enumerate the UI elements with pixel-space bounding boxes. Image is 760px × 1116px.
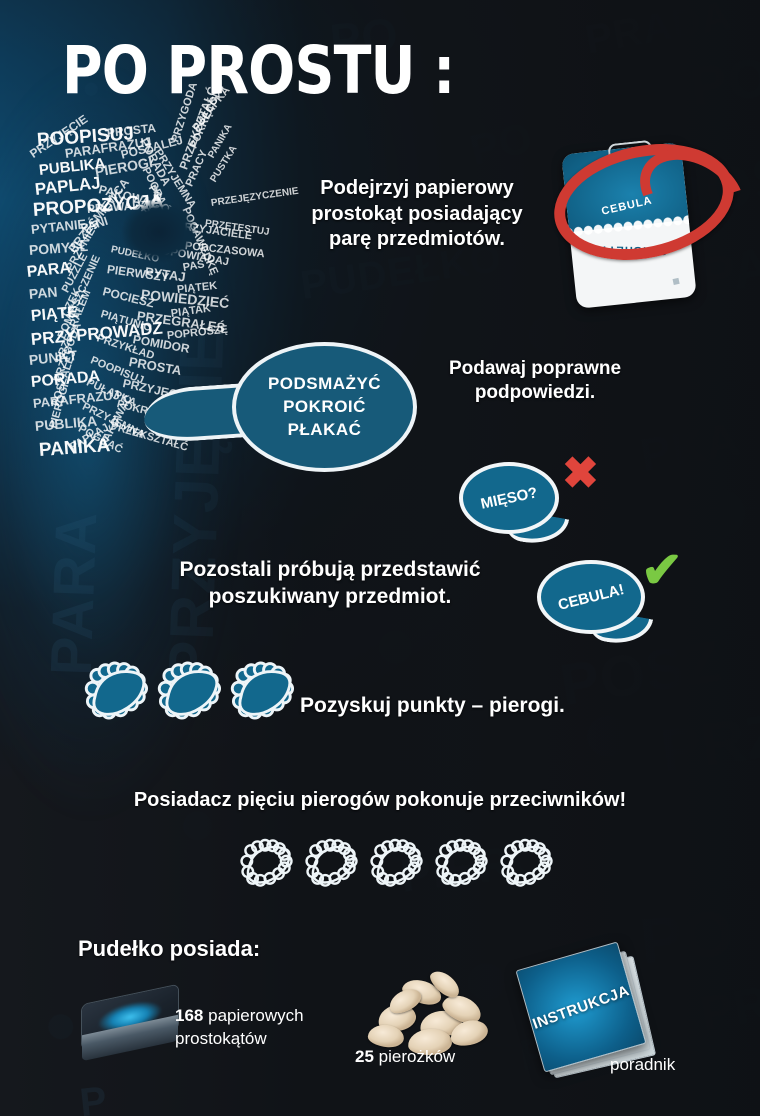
dumpling-tokens-image [368, 975, 493, 1055]
step-4-text: Pozyskuj punkty – pierogi. [300, 693, 630, 720]
hint-line-1: PODSMAŻYĆ [268, 374, 381, 394]
pierog-icon-outline [498, 840, 556, 893]
pierog-icon-outline [303, 840, 361, 893]
manual-booklet-icon: INSTRUKCJA [520, 950, 650, 1070]
step-1-text: Podejrzyj papierowy prostokąt posiadając… [272, 176, 562, 253]
cross-icon: ✖ [562, 452, 599, 496]
word-cloud-word: PAN [28, 284, 58, 302]
pierog-icon-outline [238, 840, 296, 893]
paper-rectangle-card: CEBULA SPAGHETTI [553, 140, 723, 315]
pierog-icon-filled [82, 663, 152, 726]
dumpling-label: pierożków [379, 1047, 456, 1066]
poster: POPRADAPORADAPOPROSTAPUDEŁKOPAPLAJPRZYJĘ… [0, 0, 760, 1116]
check-icon: ✔ [641, 545, 683, 595]
paper-rectangles-count: 168 [175, 1006, 203, 1025]
dumpling-count: 25 [355, 1047, 374, 1066]
hint-line-3: PŁAKAĆ [288, 420, 362, 440]
word-cloud-counter-hole [121, 200, 197, 264]
guess-bubble-wrong: MIĘSO? [459, 462, 559, 534]
page-title: PO PROSTU : [62, 38, 455, 104]
pierog-icon-outline [433, 840, 491, 893]
contents-item-dumpling-tokens: 25 pierożków [355, 1046, 535, 1069]
manual-label: poradnik [610, 1055, 675, 1074]
pierog-icon-filled [228, 663, 298, 726]
contents-item-paper-rectangles: 168 papierowych prostokątów [175, 1005, 345, 1051]
card-corner-mark [673, 278, 680, 285]
contents-item-manual: poradnik [610, 1054, 730, 1077]
step-2-text: Podawaj poprawne podpowiedzi. [410, 357, 660, 406]
game-box-icon [76, 995, 186, 1067]
pierog-icon-outline [368, 840, 426, 893]
contents-heading: Pudełko posiada: [78, 935, 398, 963]
step-5-text: Posiadacz pięciu pierogów pokonuje przec… [80, 788, 680, 814]
word-cloud-word: PAS [182, 258, 206, 274]
step-3-text: Pozostali próbują przedstawić poszukiwan… [145, 557, 515, 611]
pierog-icon-filled [155, 663, 225, 726]
hint-bubble-lines: PODSMAŻYĆ POKROIĆ PŁAKAĆ [232, 342, 417, 472]
hint-speech-bubble: PODSMAŻYĆ POKROIĆ PŁAKAĆ [232, 342, 417, 472]
hint-line-2: POKROIĆ [283, 397, 366, 417]
manual-cover-title: INSTRUKCJA [526, 980, 637, 1034]
guess-bubble-correct: CEBULA! [537, 560, 645, 634]
